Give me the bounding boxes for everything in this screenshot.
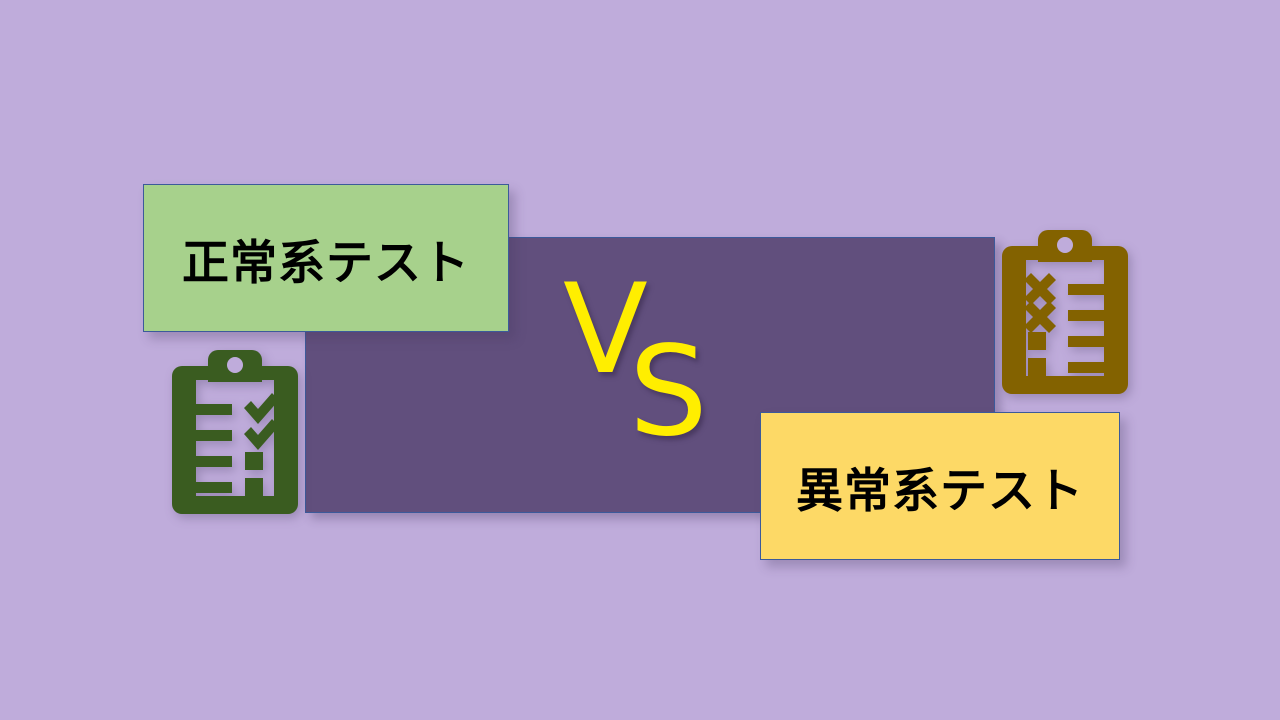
label-normal-tests: 正常系テスト [143,184,509,332]
clipboard-checklist-icon [172,348,298,514]
slide-canvas: V S 正常系テスト 異常系テスト [0,0,1280,720]
label-abnormal-tests-text: 異常系テスト [796,452,1084,521]
clipboard-crosslist-icon [1002,228,1128,394]
label-normal-tests-text: 正常系テスト [182,224,470,293]
label-abnormal-tests: 異常系テスト [760,412,1120,560]
